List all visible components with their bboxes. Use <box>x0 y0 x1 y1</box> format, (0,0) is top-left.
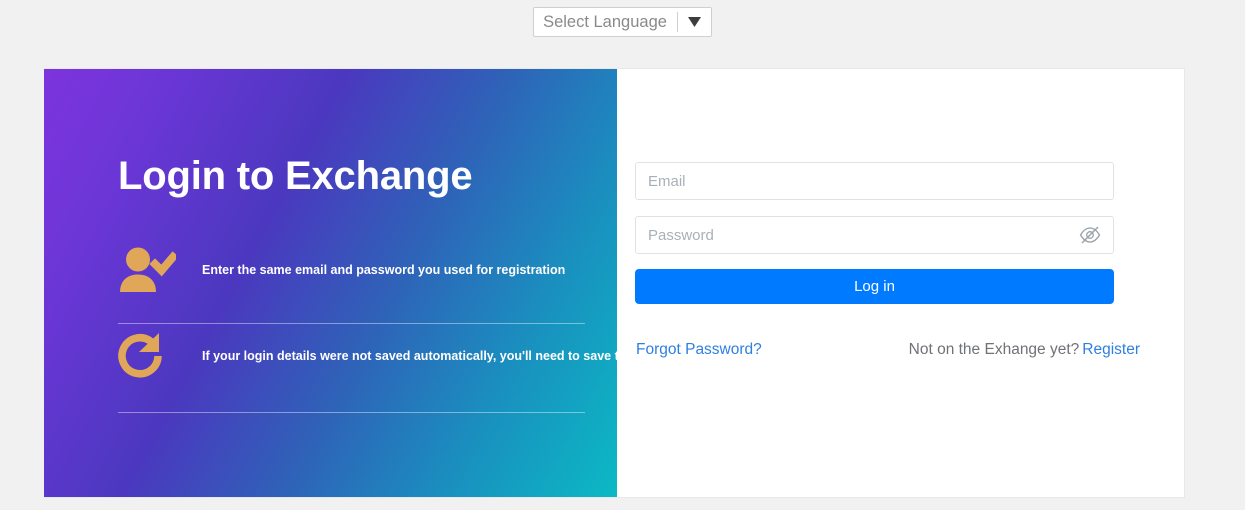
email-placeholder: Email <box>648 174 1101 189</box>
email-field[interactable]: Email <box>635 162 1114 200</box>
register-row: Not on the Exhange yet? Register <box>909 341 1140 359</box>
forgot-password-link[interactable]: Forgot Password? <box>636 341 762 359</box>
language-select[interactable]: Select Language <box>533 7 712 37</box>
feature-item-save-details: If your login details were not saved aut… <box>118 331 586 381</box>
feature-text: Enter the same email and password you us… <box>180 262 565 278</box>
feature-text: If your login details were not saved aut… <box>180 348 681 364</box>
promo-divider <box>118 412 585 413</box>
password-placeholder: Password <box>648 228 1079 243</box>
language-bar: Select Language <box>0 0 1245 44</box>
page-title: Login to Exchange <box>118 154 472 199</box>
language-select-label: Select Language <box>543 8 677 36</box>
password-field[interactable]: Password <box>635 216 1114 254</box>
triangle-down-icon[interactable] <box>678 17 711 27</box>
promo-panel: Login to Exchange Enter the same email a… <box>44 69 617 497</box>
register-prompt: Not on the Exhange yet? <box>909 341 1080 359</box>
user-check-icon <box>118 247 180 293</box>
refresh-redo-icon <box>118 331 180 381</box>
register-link[interactable]: Register <box>1082 341 1140 359</box>
promo-divider <box>118 323 585 324</box>
eye-off-icon[interactable] <box>1079 224 1101 246</box>
feature-item-registration: Enter the same email and password you us… <box>118 247 586 293</box>
login-button[interactable]: Log in <box>635 269 1114 304</box>
login-card: Login to Exchange Enter the same email a… <box>44 68 1185 498</box>
login-form: Email Password Log in Forgot Password? N… <box>617 69 1184 497</box>
